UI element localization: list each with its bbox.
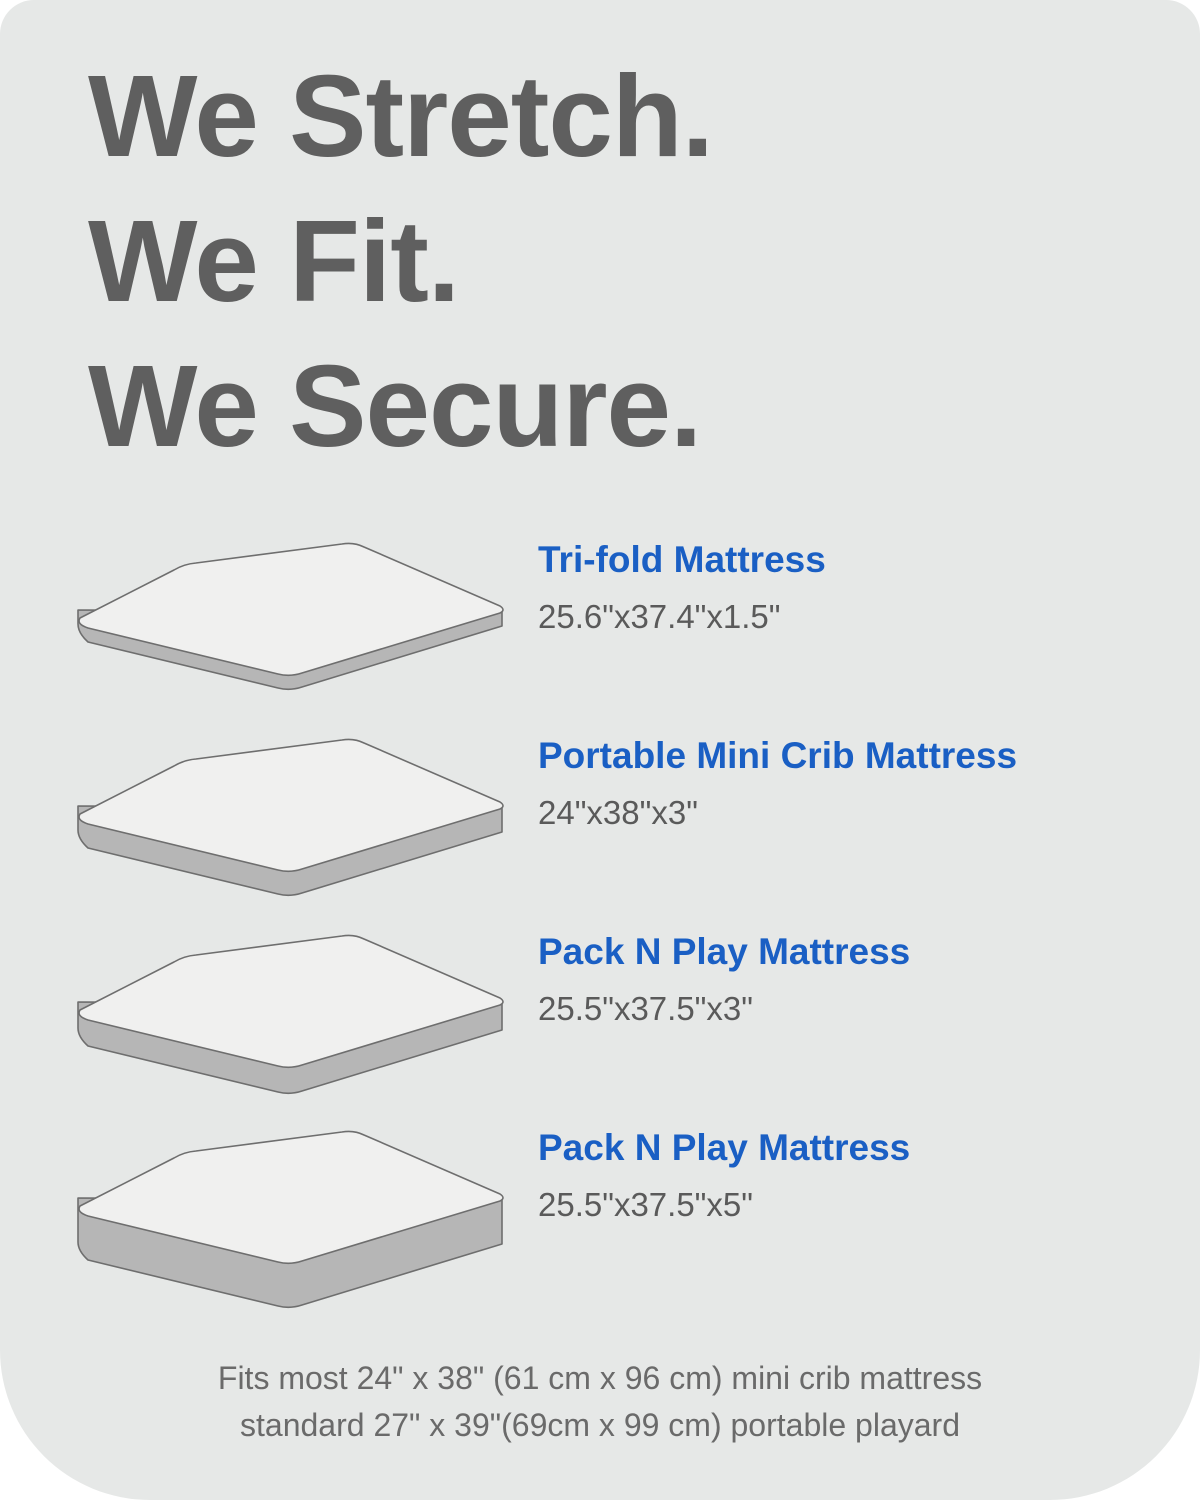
product-label-4: Pack N Play Mattress 25.5"x37.5"x5" bbox=[538, 1126, 1178, 1226]
footer-note: Fits most 24" x 38" (61 cm x 96 cm) mini… bbox=[0, 1355, 1200, 1449]
product-dimensions: 24"x38"x3" bbox=[538, 792, 1178, 834]
headline-line-3: We Secure. bbox=[88, 334, 1088, 479]
product-dimensions: 25.6"x37.4"x1.5" bbox=[538, 596, 1178, 638]
headline-line-2: We Fit. bbox=[88, 189, 1088, 334]
product-row-pnp-3: Pack N Play Mattress 25.5"x37.5"x3" bbox=[0, 930, 1200, 1126]
product-row-trifold: Tri-fold Mattress 25.6"x37.4"x1.5" bbox=[0, 538, 1200, 734]
product-label-2: Portable Mini Crib Mattress 24"x38"x3" bbox=[538, 734, 1178, 834]
product-label-3: Pack N Play Mattress 25.5"x37.5"x3" bbox=[538, 930, 1178, 1030]
product-row-pnp-5: Pack N Play Mattress 25.5"x37.5"x5" bbox=[0, 1126, 1200, 1322]
product-title: Pack N Play Mattress bbox=[538, 930, 1178, 974]
mattress-illustration-2 bbox=[62, 734, 522, 930]
infographic-page: We Stretch. We Fit. We Secure. Tri-fold … bbox=[0, 0, 1200, 1500]
mattress-illustration-4 bbox=[62, 1126, 522, 1322]
product-title: Pack N Play Mattress bbox=[538, 1126, 1178, 1170]
mattress-illustration-1 bbox=[62, 538, 522, 734]
headline-line-1: We Stretch. bbox=[88, 44, 1088, 189]
mattress-illustration-3 bbox=[62, 930, 522, 1126]
footer-line-2: standard 27" x 39"(69cm x 99 cm) portabl… bbox=[0, 1402, 1200, 1449]
product-label-1: Tri-fold Mattress 25.6"x37.4"x1.5" bbox=[538, 538, 1178, 638]
product-title: Portable Mini Crib Mattress bbox=[538, 734, 1178, 778]
footer-line-1: Fits most 24" x 38" (61 cm x 96 cm) mini… bbox=[0, 1355, 1200, 1402]
product-dimensions: 25.5"x37.5"x5" bbox=[538, 1184, 1178, 1226]
product-dimensions: 25.5"x37.5"x3" bbox=[538, 988, 1178, 1030]
product-row-mini-crib: Portable Mini Crib Mattress 24"x38"x3" bbox=[0, 734, 1200, 930]
headline-block: We Stretch. We Fit. We Secure. bbox=[88, 44, 1088, 479]
product-title: Tri-fold Mattress bbox=[538, 538, 1178, 582]
